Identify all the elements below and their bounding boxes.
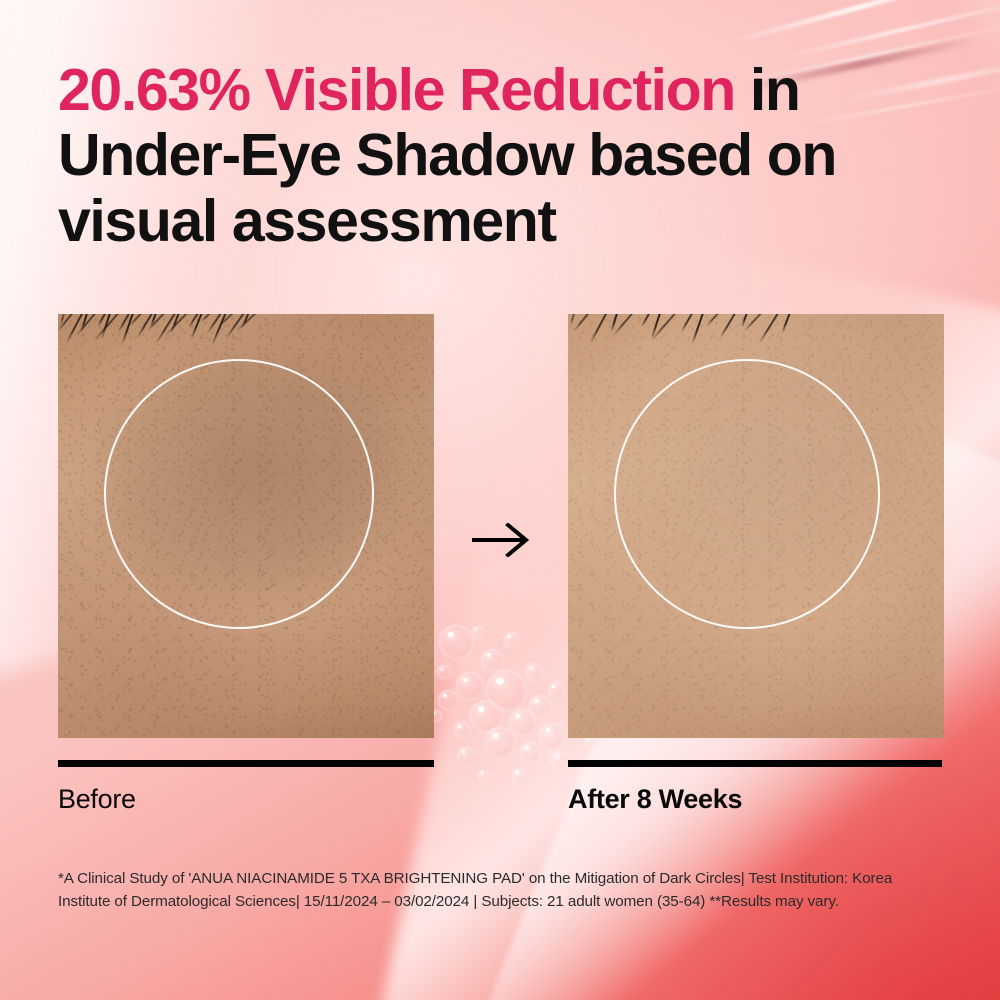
bubble [454,722,470,738]
headline-stat: 20.63% Visible Reduction [58,57,735,123]
bubble [472,626,484,638]
bubble [520,742,540,762]
bubble [525,663,543,681]
headline-line-3: visual assessment [58,188,556,254]
page-title: 20.63% Visible Reduction in Under-Eye Sh… [58,58,938,254]
circle-marker-icon [104,359,374,629]
before-label: Before [58,784,136,815]
bubble [548,682,564,698]
after-photo [568,314,944,738]
before-photo [58,314,434,738]
headline-line-2: Under-Eye Shadow based on [58,122,836,188]
clinical-study-footnote: *A Clinical Study of 'ANUA NIACINAMIDE 5… [58,867,918,913]
bubble [551,751,569,769]
before-divider [58,760,434,767]
bubble [437,665,451,679]
bubble [481,649,503,671]
after-label: After 8 Weeks [568,784,742,815]
bubble [478,770,490,782]
bubble [504,632,520,648]
bubble [456,672,484,700]
circle-marker-icon [614,359,880,629]
bubble [485,727,515,757]
bubble [539,723,565,749]
bubble [457,747,475,765]
after-divider [568,760,942,767]
bubble [529,695,551,717]
bubble [512,768,528,784]
bubble [438,690,458,710]
arrow-right-icon [470,523,534,557]
bubble [439,625,473,659]
headline-stat-suffix: in [735,57,800,123]
